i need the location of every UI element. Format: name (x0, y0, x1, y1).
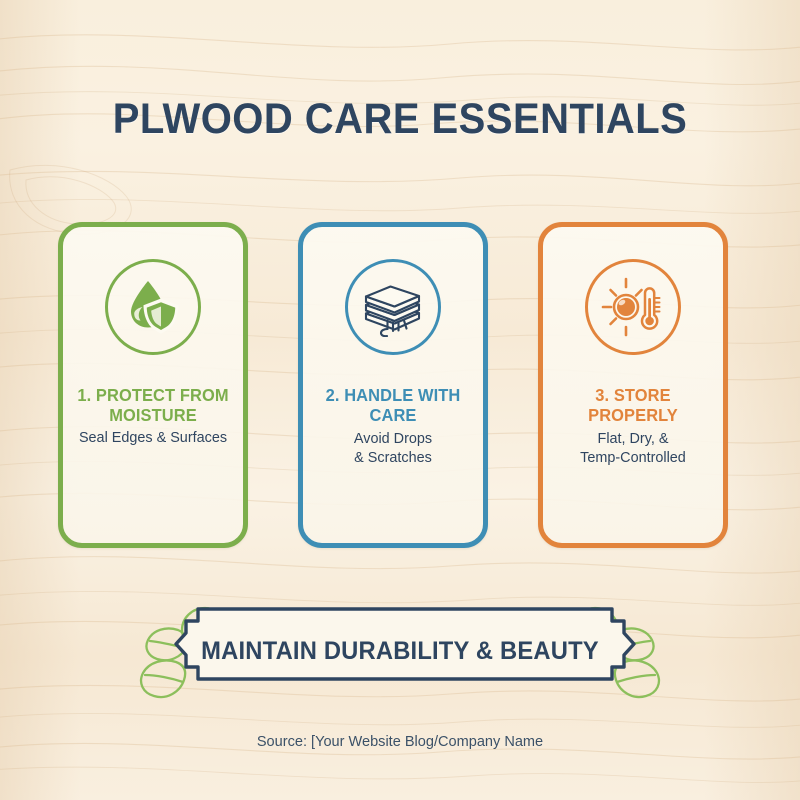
icon-ring-1 (105, 259, 201, 355)
icon-ring-2 (345, 259, 441, 355)
card-heading-2: 2. HANDLE WITH CARE (312, 385, 474, 425)
banner-text: MAINTAIN DURABILITY & BEAUTY (20, 637, 780, 665)
plywood-stack-hand-icon (361, 277, 425, 337)
water-droplet-shield-icon (122, 276, 184, 338)
tips-card-group: 1. PROTECT FROM MOISTURE Seal Edges & Su… (0, 222, 800, 552)
card-subtitle-2: Avoid Drops & Scratches (309, 429, 478, 467)
infographic-canvas: PLWOOD CARE ESSENTIALS 1. PROTECT FROM M… (0, 0, 800, 800)
tip-card-handle-with-care[interactable]: 2. HANDLE WITH CARE Avoid Drops & Scratc… (298, 222, 488, 548)
sun-thermometer-icon (601, 277, 665, 337)
card-heading-1: 1. PROTECT FROM MOISTURE (72, 385, 234, 425)
icon-ring-3 (585, 259, 681, 355)
tip-card-protect-from-moisture[interactable]: 1. PROTECT FROM MOISTURE Seal Edges & Su… (58, 222, 248, 548)
card-subtitle-3: Flat, Dry, & Temp-Controlled (549, 429, 718, 467)
card-subtitle-1: Seal Edges & Surfaces (69, 428, 238, 447)
card-heading-3: 3. STORE PROPERLY (552, 385, 714, 425)
page-title: PLWOOD CARE ESSENTIALS (28, 96, 772, 142)
tip-card-store-properly[interactable]: 3. STORE PROPERLY Flat, Dry, & Temp-Cont… (538, 222, 728, 548)
source-footer: Source: [Your Website Blog/Company Name (12, 732, 788, 752)
